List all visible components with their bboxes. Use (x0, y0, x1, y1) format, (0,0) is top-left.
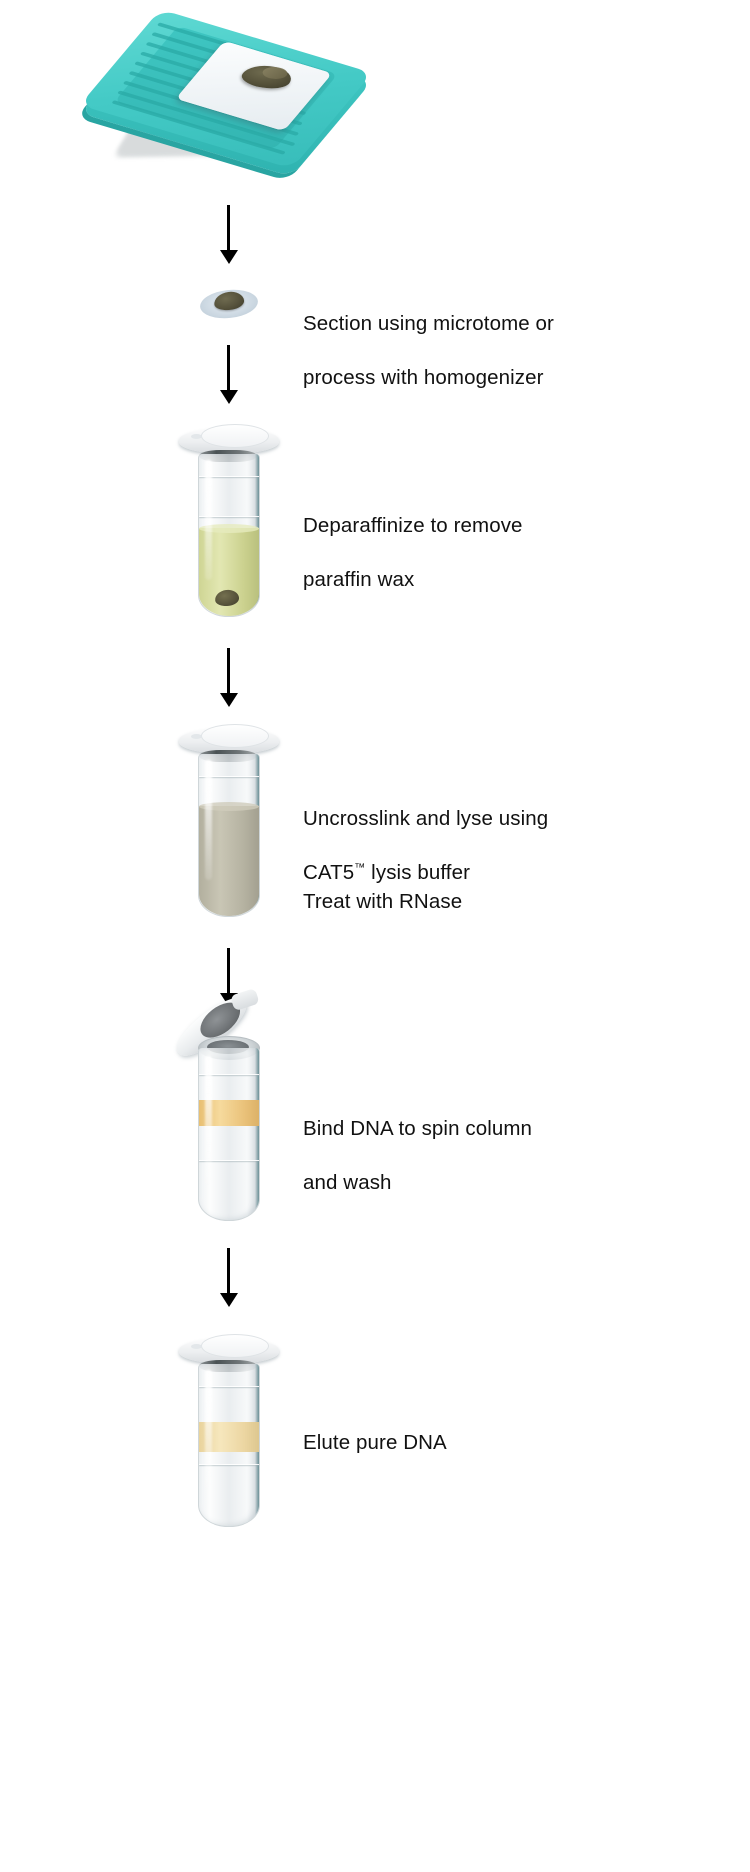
workflow-diagram: Section using microtome or process with … (0, 0, 750, 1872)
tube-highlight (205, 460, 212, 580)
arrow-5-icon (227, 1248, 230, 1294)
tube-cap-dimple (191, 434, 202, 439)
microtube-deparaffinize-art (173, 420, 283, 625)
tissue-cassette-art (112, 18, 342, 174)
spin-column-art (173, 1008, 283, 1233)
tube-cap-dimple (191, 734, 202, 739)
step-deparaffinize-label-line1: Deparaffinize to remove (303, 512, 523, 539)
step-bind-label: Bind DNA to spin column and wash (303, 1088, 532, 1223)
step-bind-label-line1: Bind DNA to spin column (303, 1115, 532, 1142)
lid-hinge (230, 988, 260, 1011)
step-rnase-label-line1: Treat with RNase (303, 888, 462, 915)
step-section-label-line2: process with homogenizer (303, 364, 554, 391)
tube-highlight (205, 1370, 212, 1490)
step-deparaffinize-label: Deparaffinize to remove paraffin wax (303, 485, 523, 620)
arrow-2-icon (227, 345, 230, 391)
tube-highlight (205, 760, 212, 880)
tube-cap-dimple (191, 1344, 202, 1349)
step-deparaffinize-label-line2: paraffin wax (303, 566, 523, 593)
step-bind-label-line2: and wash (303, 1169, 532, 1196)
arrow-3-icon (227, 648, 230, 694)
tube-cap-ring (201, 424, 269, 448)
step-rnase-label: Treat with RNase (303, 861, 462, 942)
tube-cap-ring (201, 724, 269, 748)
microtube-elute-art (173, 1330, 283, 1535)
tube-cap-ring (201, 1334, 269, 1358)
arrow-1-icon (227, 205, 230, 251)
step-elute-label-line1: Elute pure DNA (303, 1429, 447, 1456)
step-elute-label: Elute pure DNA (303, 1402, 447, 1483)
step-section-label: Section using microtome or process with … (303, 283, 554, 418)
tissue-section-art (200, 282, 260, 324)
microtube-lysis-art (173, 720, 283, 925)
step-section-label-line1: Section using microtome or (303, 310, 554, 337)
tube-highlight (205, 1056, 212, 1186)
step-lyse-label-line1: Uncrosslink and lyse using (303, 805, 548, 832)
